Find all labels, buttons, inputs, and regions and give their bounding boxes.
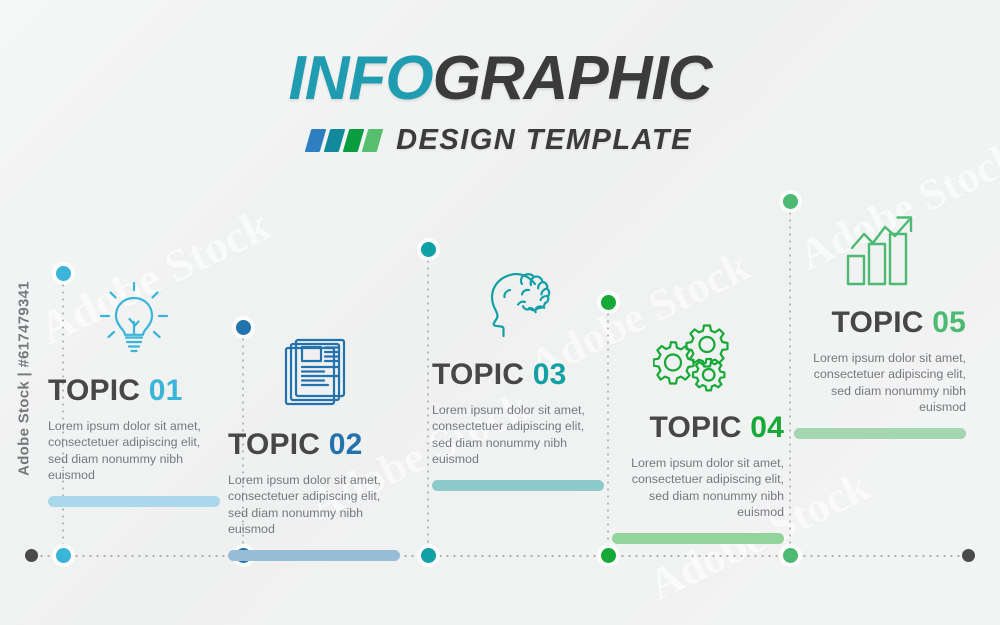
newspaper-icon — [228, 322, 400, 414]
topic-number-4: 04 — [750, 411, 784, 444]
topic-progress-bar-4 — [612, 533, 784, 544]
topic-number-5: 05 — [932, 306, 966, 339]
infographic-canvas: Adobe Stock Adobe Stock Adobe Stock Adob… — [0, 0, 1000, 625]
timeline-connector-5 — [789, 210, 791, 556]
timeline-baseline — [31, 555, 970, 557]
lightbulb-icon — [48, 268, 220, 360]
topic-progress-bar-2 — [228, 550, 400, 561]
topic-word-1: TOPIC — [48, 374, 140, 407]
topic-title-2: TOPIC 02 — [228, 428, 400, 462]
topic-title-1: TOPIC 01 — [48, 374, 220, 408]
topic-description-3: Lorem ipsum dolor sit amet, consectetuer… — [432, 402, 604, 468]
accent-bars-icon — [308, 129, 380, 152]
topic-word-3: TOPIC — [432, 358, 524, 391]
title-part-graphic: GRAPHIC — [433, 44, 712, 113]
timeline-base-node-1[interactable] — [56, 548, 71, 563]
timeline-base-node-4[interactable] — [601, 548, 616, 563]
topic-progress-bar-3 — [432, 480, 604, 491]
title-part-info: INFO — [288, 44, 432, 113]
topic-number-3: 03 — [533, 358, 567, 391]
timeline-base-node-5[interactable] — [783, 548, 798, 563]
topic-word-4: TOPIC — [650, 411, 742, 444]
topic-description-1: Lorem ipsum dolor sit amet, consectetuer… — [48, 418, 220, 484]
topic-card-5[interactable]: TOPIC 05 Lorem ipsum dolor sit amet, con… — [794, 200, 966, 439]
subtitle-row: DESIGN TEMPLATE — [0, 124, 1000, 157]
stock-id-watermark: Adobe Stock | #617479341 — [16, 239, 33, 519]
timeline-end-dot-left — [25, 549, 38, 562]
gears-icon — [612, 305, 784, 397]
topic-title-3: TOPIC 03 — [432, 358, 604, 392]
timeline-connector-3 — [427, 258, 429, 556]
brain-head-icon — [432, 252, 604, 344]
topic-word-2: TOPIC — [228, 428, 320, 461]
topic-description-5: Lorem ipsum dolor sit amet, consectetuer… — [794, 350, 966, 416]
topic-description-4: Lorem ipsum dolor sit amet, consectetuer… — [612, 455, 784, 521]
timeline-base-node-3[interactable] — [421, 548, 436, 563]
topic-word-5: TOPIC — [832, 306, 924, 339]
topic-description-2: Lorem ipsum dolor sit amet, consectetuer… — [228, 472, 400, 538]
topic-number-2: 02 — [329, 428, 363, 461]
topic-card-2[interactable]: TOPIC 02 Lorem ipsum dolor sit amet, con… — [228, 322, 400, 561]
topic-number-1: 01 — [149, 374, 183, 407]
header: INFOGRAPHIC DESIGN TEMPLATE — [0, 48, 1000, 157]
topic-card-1[interactable]: TOPIC 01 Lorem ipsum dolor sit amet, con… — [48, 268, 220, 507]
topic-progress-bar-5 — [794, 428, 966, 439]
topic-progress-bar-1 — [48, 496, 220, 507]
page-subtitle: DESIGN TEMPLATE — [396, 124, 692, 157]
topic-card-4[interactable]: TOPIC 04 Lorem ipsum dolor sit amet, con… — [612, 305, 784, 544]
topic-title-5: TOPIC 05 — [794, 306, 966, 340]
growth-chart-icon — [794, 200, 966, 292]
topic-title-4: TOPIC 04 — [612, 411, 784, 445]
timeline-connector-4 — [607, 311, 609, 556]
timeline-end-dot-right — [962, 549, 975, 562]
topic-card-3[interactable]: TOPIC 03 Lorem ipsum dolor sit amet, con… — [432, 252, 604, 491]
page-title: INFOGRAPHIC — [0, 48, 1000, 110]
